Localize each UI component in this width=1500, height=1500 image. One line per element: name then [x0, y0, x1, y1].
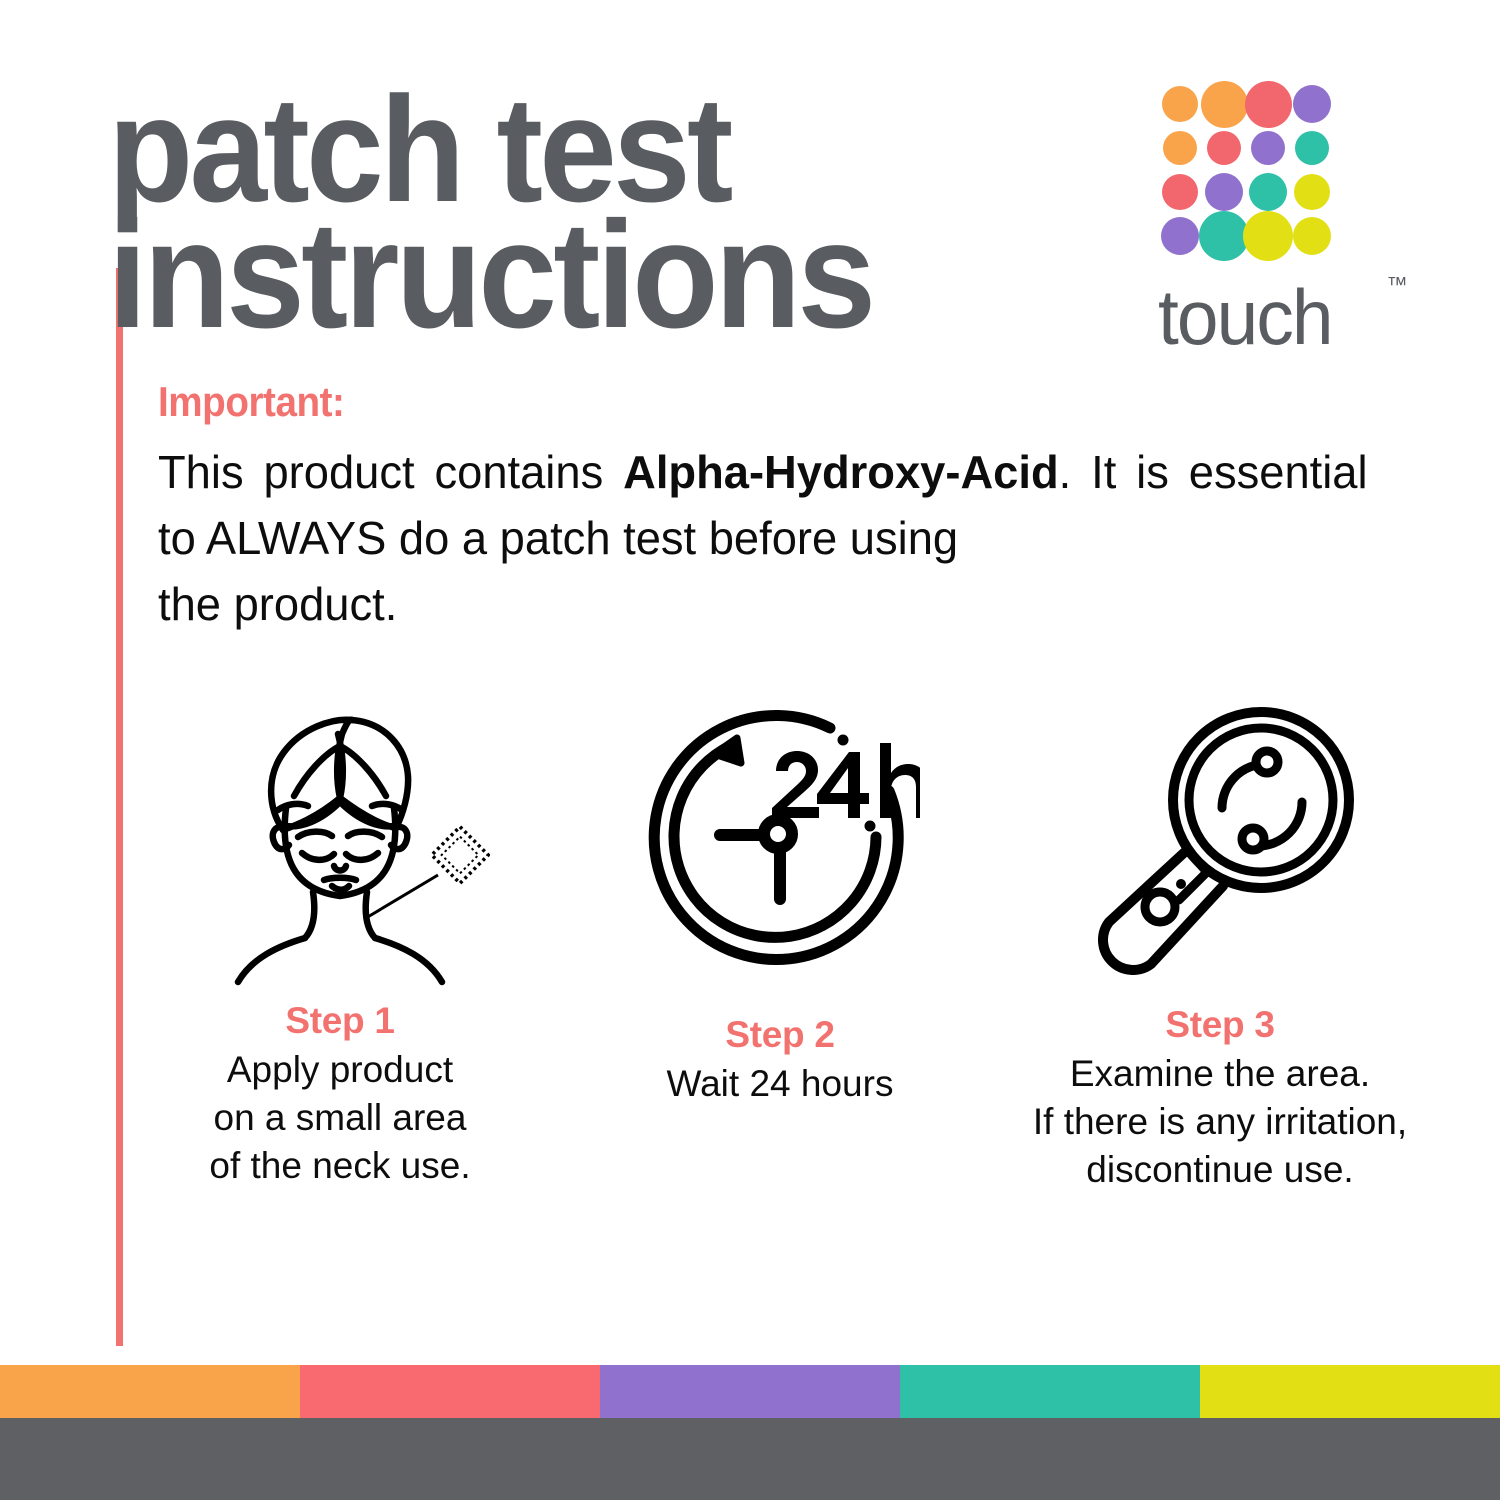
- logo-dot-r4-c3: [1243, 211, 1293, 261]
- logo-dot-r2-c4: [1295, 131, 1329, 165]
- notice-text-part1: This product contains: [158, 446, 623, 498]
- step-1-illustration: [190, 690, 490, 990]
- notice-text-bold: Alpha-Hydroxy-Acid: [623, 446, 1059, 498]
- notice-text-part3: the product.: [158, 572, 1368, 638]
- footer-color-block-3: [600, 1365, 900, 1418]
- trademark-symbol: ™: [1386, 274, 1407, 296]
- important-label: Important:: [158, 378, 344, 426]
- step-1-caption: Apply producton a small areaof the neck …: [209, 1046, 470, 1190]
- face-with-towel-patch-icon: [190, 690, 490, 990]
- logo-dot-r2-c2: [1207, 131, 1241, 165]
- logo-dot-r3-c1: [1162, 174, 1198, 210]
- footer-color-block-4: [900, 1365, 1200, 1418]
- step-item-3: Step 3 Examine the area.If there is any …: [1010, 690, 1430, 1194]
- footer-color-block-1: [0, 1365, 300, 1418]
- brand-logo: touch ™: [1158, 82, 1388, 356]
- logo-dot-r1-c2: [1201, 81, 1248, 128]
- logo-dot-r4-c1: [1161, 217, 1199, 255]
- step-3-title: Step 3: [1165, 1004, 1274, 1046]
- footer-color-block-5: [1200, 1365, 1500, 1418]
- logo-dot-r2-c1: [1163, 131, 1197, 165]
- steps-row: Step 1 Apply producton a small areaof th…: [130, 690, 1430, 1194]
- brand-wordmark-text: touch: [1158, 273, 1332, 361]
- footer-gray-bar: [0, 1418, 1500, 1500]
- step-3-illustration: [1075, 690, 1365, 990]
- touch-dot-grid-logo: [1158, 82, 1358, 272]
- logo-dot-r1-c1: [1162, 86, 1198, 122]
- logo-dot-r3-c4: [1294, 174, 1330, 210]
- logo-dot-r3-c3: [1249, 173, 1287, 211]
- left-accent-rule: [116, 268, 123, 1346]
- logo-dot-r1-c3: [1245, 81, 1292, 128]
- step-2-illustration: [640, 690, 920, 990]
- notice-body-text: This product contains Alpha-Hydroxy-Acid…: [158, 440, 1368, 637]
- logo-dot-r1-c4: [1293, 85, 1331, 123]
- step-item-2: Step 2 Wait 24 hours: [570, 690, 990, 1108]
- brand-wordmark: touch ™: [1158, 278, 1379, 356]
- footer-color-bar: [0, 1365, 1500, 1418]
- page-title: patch test instructions: [108, 86, 1118, 340]
- step-item-1: Step 1 Apply producton a small areaof th…: [130, 690, 550, 1190]
- step-3-caption: Examine the area.If there is any irritat…: [1033, 1050, 1407, 1194]
- step-1-title: Step 1: [285, 1000, 394, 1042]
- logo-dot-r3-c2: [1205, 173, 1243, 211]
- step-2-caption: Wait 24 hours: [667, 1060, 894, 1108]
- logo-dot-r4-c4: [1293, 217, 1331, 255]
- step-2-title: Step 2: [725, 1014, 834, 1056]
- logo-dot-r4-c2: [1199, 211, 1249, 261]
- clock-24h-icon: [640, 705, 920, 975]
- footer-color-block-2: [300, 1365, 600, 1418]
- magnifying-glass-icon: [1075, 700, 1365, 980]
- title-line-2: instructions: [108, 212, 1047, 340]
- logo-dot-r2-c3: [1251, 131, 1285, 165]
- patch-marker-icon: [432, 827, 489, 884]
- patch-test-instruction-card: patch test instructions touch ™ Importan…: [0, 0, 1500, 1500]
